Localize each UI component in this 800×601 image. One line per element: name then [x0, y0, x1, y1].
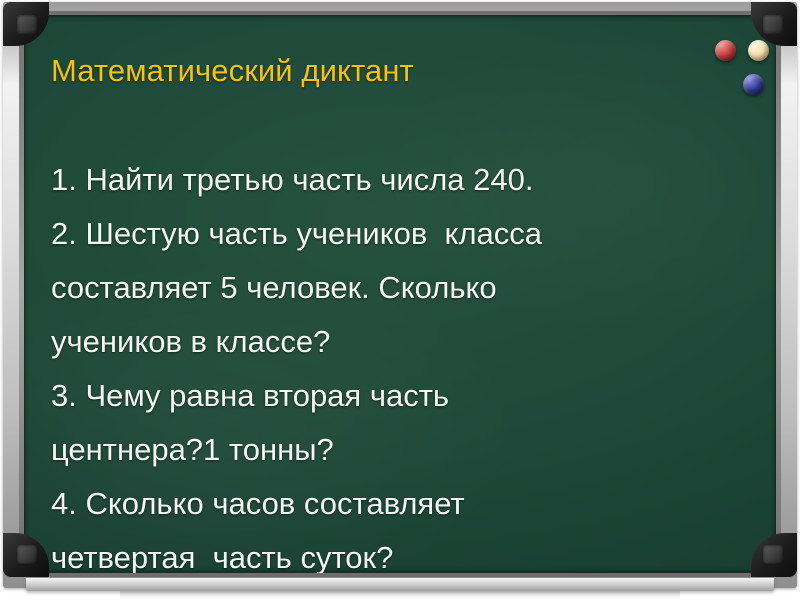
magnet-blue-icon[interactable]: [743, 74, 764, 95]
board-title: Математический диктант: [51, 53, 414, 89]
chalkboard-surface: Математический диктант 1. Найти третью ч…: [24, 15, 776, 573]
board-text-line: 2. Шестую часть учеников класса: [51, 207, 741, 261]
corner-notch: [17, 15, 37, 34]
board-text-line: четвертая часть суток?: [51, 531, 741, 573]
corner-notch: [17, 545, 37, 564]
board-text-line: 1. Найти третью часть числа 240.: [51, 153, 741, 207]
board-text-line: учеников в классе?: [51, 315, 741, 369]
magnet-cream-icon[interactable]: [748, 40, 769, 61]
board-text-line: центнера?1 тонны?: [51, 423, 741, 477]
tray-drop-shadow: [120, 591, 680, 599]
corner-notch: [763, 15, 783, 34]
whiteboard-frame: Математический диктант 1. Найти третью ч…: [3, 2, 797, 588]
board-text-line: 4. Сколько часов составляет: [51, 477, 741, 531]
board-text-line: 3. Чему равна вторая часть: [51, 369, 741, 423]
board-marker-tray: [26, 578, 774, 591]
slide-canvas: Математический диктант 1. Найти третью ч…: [0, 0, 800, 601]
board-body-text: 1. Найти третью часть числа 240. 2. Шест…: [51, 153, 741, 573]
corner-notch: [763, 545, 783, 564]
magnet-red-icon[interactable]: [715, 40, 736, 61]
board-text-line: составляет 5 человек. Сколько: [51, 261, 741, 315]
